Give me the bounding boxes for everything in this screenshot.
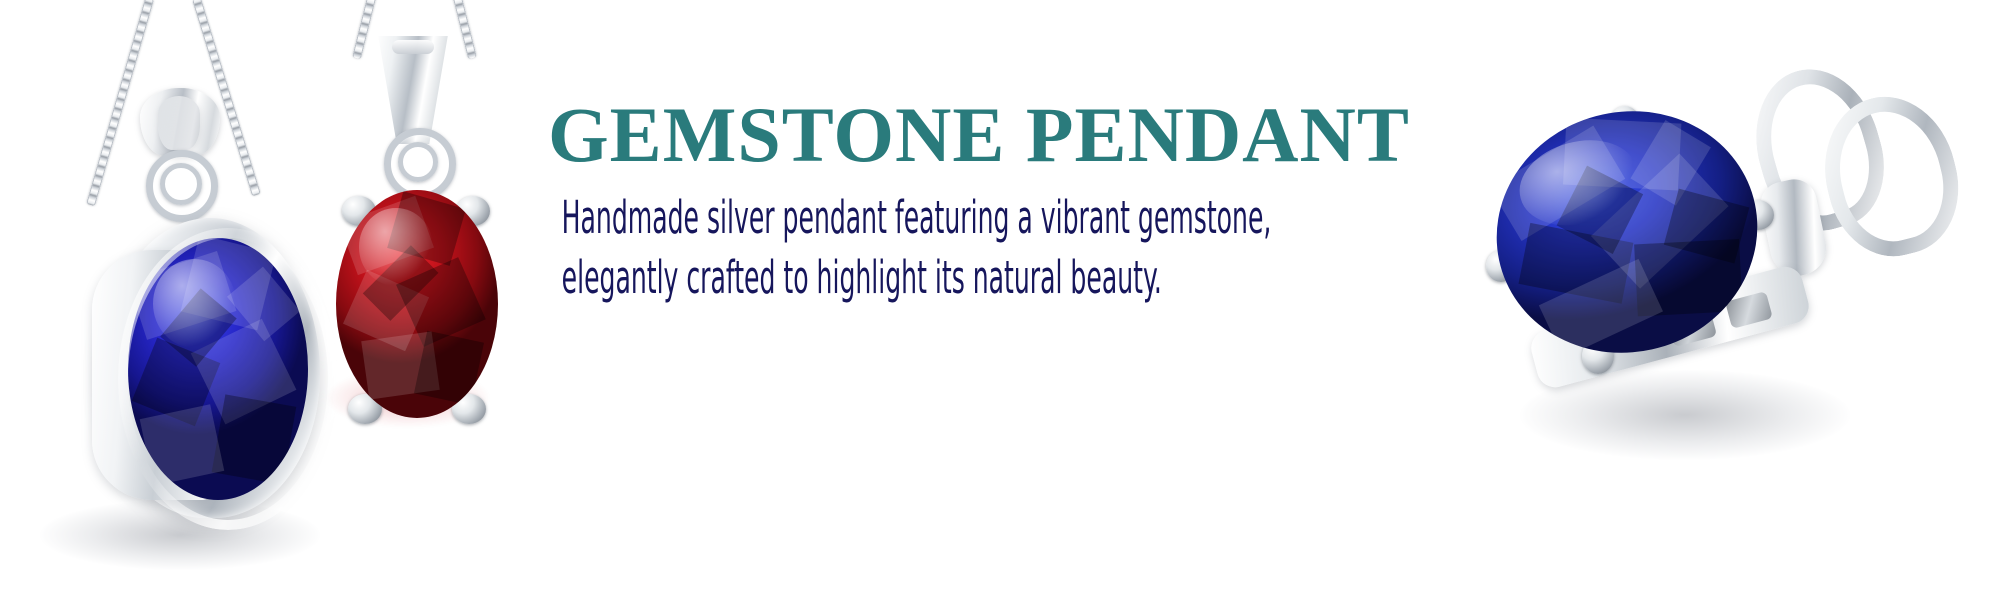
gemstone-ruby-oval (336, 190, 498, 418)
subtitle-line-2: elegantly crafted to highlight its natur… (548, 248, 1131, 308)
page-title: GEMSTONE PENDANT (548, 96, 1488, 174)
product-image-blue-sapphire-prong-pendant[interactable] (1490, 70, 1960, 490)
gemstone-pendant-banner: GEMSTONE PENDANT Handmade silver pendant… (0, 0, 2000, 600)
bail-plate-inner-shade (158, 96, 200, 150)
jump-ring-inner (160, 163, 202, 205)
gem-facets (336, 190, 498, 418)
product-image-red-ruby-prong-pendant[interactable] (280, 0, 580, 520)
chain-strand-right (451, 0, 477, 59)
jump-ring-inner (398, 142, 438, 182)
bail-top-detail (392, 40, 434, 54)
banner-text-block: GEMSTONE PENDANT Handmade silver pendant… (548, 96, 1488, 309)
subtitle-line-1: Handmade silver pendant featuring a vibr… (548, 188, 1131, 248)
chain-strand-left (352, 0, 378, 59)
